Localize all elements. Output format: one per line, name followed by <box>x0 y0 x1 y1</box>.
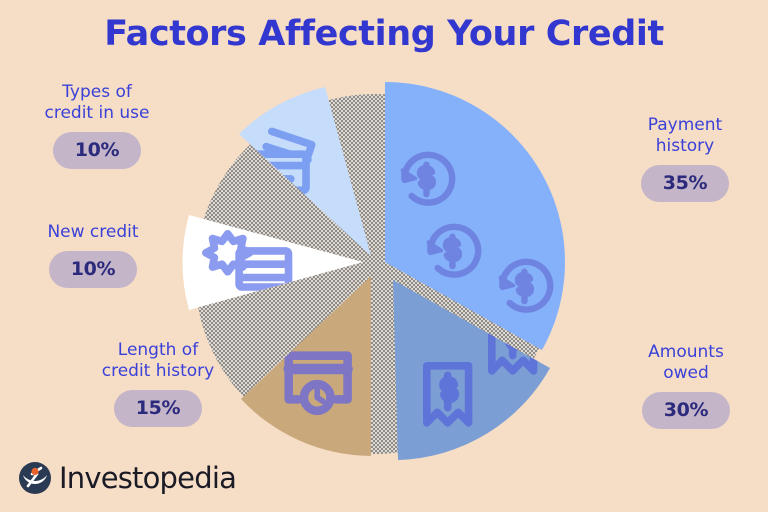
label-amounts-owed-text: Amounts owed <box>648 342 724 384</box>
credit-factors-infographic: Factors Affecting Your Credit <box>0 0 768 512</box>
investopedia-logo-icon <box>18 461 52 495</box>
badge-new-credit-percent: 10% <box>49 251 138 288</box>
label-new-credit-text: New credit <box>47 222 138 243</box>
badge-amounts-owed-percent: 30% <box>642 392 731 429</box>
investopedia-logo-text: Investopedia <box>59 461 236 495</box>
label-length-of-credit-history: Length of credit history 15% <box>72 340 244 427</box>
badge-payment-history-percent: 35% <box>641 165 730 202</box>
label-types-of-credit-text: Types of credit in use <box>45 82 150 124</box>
page-title: Factors Affecting Your Credit <box>0 14 768 54</box>
badge-length-of-credit-history-percent: 15% <box>114 390 203 427</box>
label-new-credit: New credit 10% <box>18 222 168 288</box>
label-payment-history: Payment history 35% <box>610 115 760 202</box>
investopedia-logo[interactable]: Investopedia <box>18 461 236 495</box>
label-amounts-owed: Amounts owed 30% <box>608 342 764 429</box>
label-length-of-credit-history-text: Length of credit history <box>102 340 214 382</box>
label-payment-history-text: Payment history <box>648 115 722 157</box>
badge-types-of-credit-percent: 10% <box>53 132 142 169</box>
label-types-of-credit: Types of credit in use 10% <box>22 82 172 169</box>
